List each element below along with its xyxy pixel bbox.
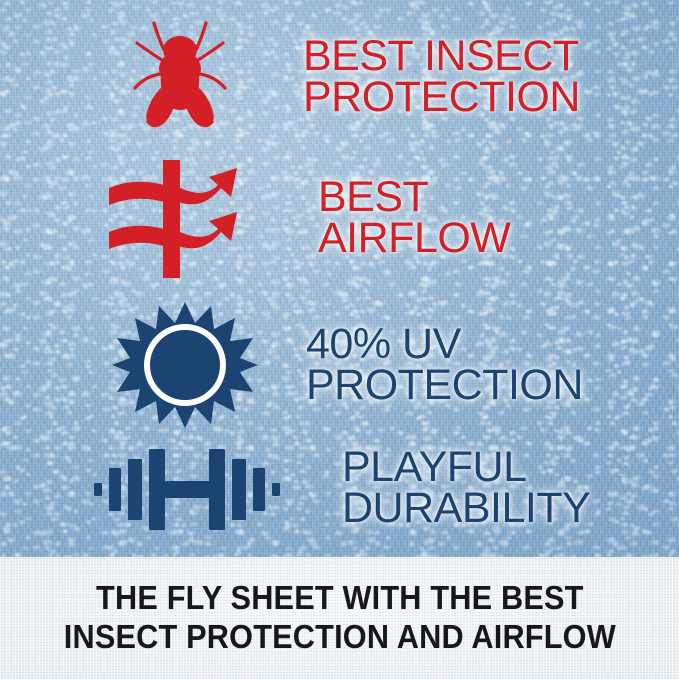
fly-icon <box>120 16 240 142</box>
feature-airflow: BEST AIRFLOW <box>105 158 510 280</box>
sun-icon <box>110 300 260 430</box>
sun-icon-wrap <box>110 300 260 430</box>
feature-list: BEST INSECT PROTECTION BEST AIRFLOW <box>0 0 679 557</box>
feature-label-uv-protection: 40% UV PROTECTION <box>306 324 583 407</box>
airflow-arrows-icon <box>105 158 265 280</box>
feature-uv-protection: 40% UV PROTECTION <box>110 300 583 430</box>
dumbbell-icon-wrap <box>92 443 282 535</box>
feature-durability: PLAYFUL DURABILITY <box>92 443 590 535</box>
feature-insect-protection: BEST INSECT PROTECTION <box>120 16 580 142</box>
dumbbell-icon <box>92 443 282 535</box>
feature-label-insect-protection: BEST INSECT PROTECTION <box>303 36 580 119</box>
caption-headline: THE FLY SHEET WITH THE BEST INSECT PROTE… <box>63 579 615 657</box>
airflow-icon-wrap <box>105 158 265 280</box>
feature-label-airflow: BEST AIRFLOW <box>318 177 510 260</box>
caption-band: THE FLY SHEET WITH THE BEST INSECT PROTE… <box>0 557 679 679</box>
fly-icon-wrap <box>120 16 240 142</box>
feature-label-durability: PLAYFUL DURABILITY <box>342 447 590 530</box>
product-infographic: BEST INSECT PROTECTION BEST AIRFLOW <box>0 0 679 679</box>
